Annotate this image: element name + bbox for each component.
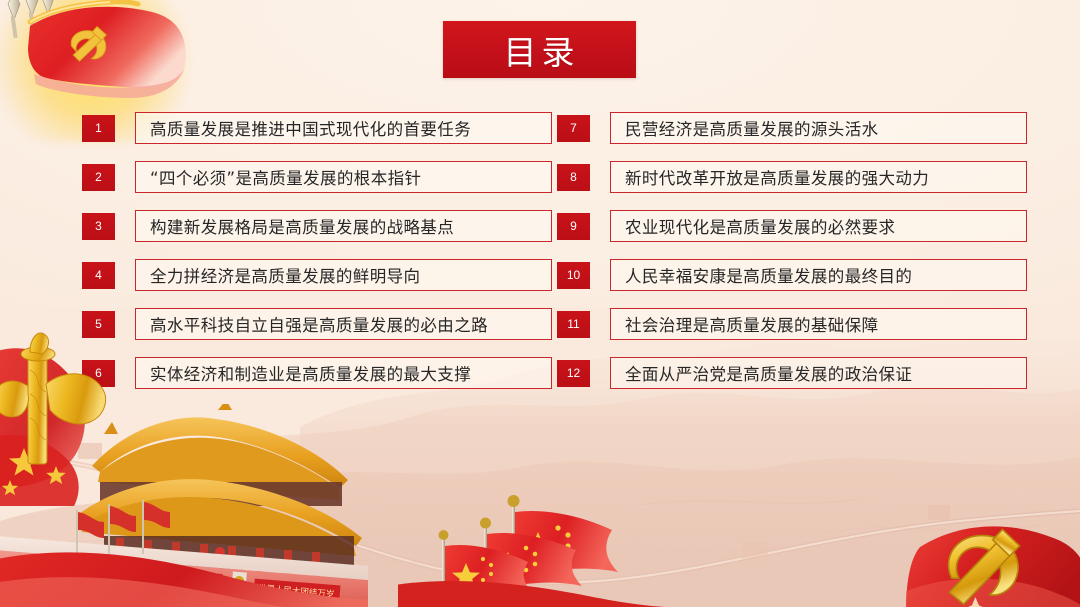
list-item[interactable]: 3 构建新发展格局是高质量发展的战略基点	[82, 210, 552, 242]
item-box[interactable]: 民营经济是高质量发展的源头活水	[610, 112, 1027, 144]
item-box[interactable]: 高水平科技自立自强是高质量发展的必由之路	[135, 308, 552, 340]
list-item[interactable]: 5 高水平科技自立自强是高质量发展的必由之路	[82, 308, 552, 340]
hammer-and-sickle-emblem	[896, 495, 1080, 607]
item-number-badge: 8	[557, 164, 590, 191]
item-number-badge: 4	[82, 262, 115, 289]
list-item[interactable]: 4 全力拼经济是高质量发展的鲜明导向	[82, 259, 552, 291]
tiananmen-gate: 中华人民共和国万岁 世界人民大团结万岁	[0, 404, 368, 607]
item-box[interactable]: 构建新发展格局是高质量发展的战略基点	[135, 210, 552, 242]
item-box[interactable]: 人民幸福安康是高质量发展的最终目的	[610, 259, 1027, 291]
item-number-badge: 1	[82, 115, 115, 142]
list-item[interactable]: 7 民营经济是高质量发展的源头活水	[557, 112, 1027, 144]
item-box[interactable]: 高质量发展是推进中国式现代化的首要任务	[135, 112, 552, 144]
item-number-badge: 12	[557, 360, 590, 387]
item-label: 高水平科技自立自强是高质量发展的必由之路	[136, 312, 488, 336]
item-label: 构建新发展格局是高质量发展的战略基点	[136, 214, 454, 238]
list-item[interactable]: 8 新时代改革开放是高质量发展的强大动力	[557, 161, 1027, 193]
tiananmen-banner-right-text: 世界人民大团结万岁	[258, 583, 335, 600]
list-item[interactable]: 2 “四个必须”是高质量发展的根本指针	[82, 161, 552, 193]
item-number-badge: 5	[82, 311, 115, 338]
slide-title-banner: 目录	[443, 21, 636, 78]
toc-column-left: 1 高质量发展是推进中国式现代化的首要任务 2 “四个必须”是高质量发展的根本指…	[82, 112, 552, 406]
item-label: 全面从严治党是高质量发展的政治保证	[611, 361, 912, 385]
item-box[interactable]: 全力拼经济是高质量发展的鲜明导向	[135, 259, 552, 291]
item-box[interactable]: 新时代改革开放是高质量发展的强大动力	[610, 161, 1027, 193]
item-box[interactable]: 实体经济和制造业是高质量发展的最大支撑	[135, 357, 552, 389]
item-label: “四个必须”是高质量发展的根本指针	[136, 165, 421, 189]
item-number-badge: 10	[557, 262, 590, 289]
item-box[interactable]: 农业现代化是高质量发展的必然要求	[610, 210, 1027, 242]
slide-canvas: 目录 1 高质量发展是推进中国式现代化的首要任务 2 “四个必须”是高质量发展的…	[0, 0, 1080, 607]
item-label: 民营经济是高质量发展的源头活水	[611, 116, 879, 140]
item-label: 高质量发展是推进中国式现代化的首要任务	[136, 116, 471, 140]
item-number-badge: 7	[557, 115, 590, 142]
item-label: 人民幸福安康是高质量发展的最终目的	[611, 263, 912, 287]
chinese-national-flags	[398, 486, 688, 607]
list-item[interactable]: 9 农业现代化是高质量发展的必然要求	[557, 210, 1027, 242]
item-box[interactable]: “四个必须”是高质量发展的根本指针	[135, 161, 552, 193]
item-number-badge: 2	[82, 164, 115, 191]
list-item[interactable]: 11 社会治理是高质量发展的基础保障	[557, 308, 1027, 340]
item-label: 农业现代化是高质量发展的必然要求	[611, 214, 895, 238]
list-item[interactable]: 6 实体经济和制造业是高质量发展的最大支撑	[82, 357, 552, 389]
page-title: 目录	[500, 26, 580, 74]
item-number-badge: 11	[557, 311, 590, 338]
list-item[interactable]: 1 高质量发展是推进中国式现代化的首要任务	[82, 112, 552, 144]
item-number-badge: 3	[82, 213, 115, 240]
list-item[interactable]: 12 全面从严治党是高质量发展的政治保证	[557, 357, 1027, 389]
item-box[interactable]: 社会治理是高质量发展的基础保障	[610, 308, 1027, 340]
item-label: 社会治理是高质量发展的基础保障	[611, 312, 879, 336]
item-number-badge: 6	[82, 360, 115, 387]
item-label: 新时代改革开放是高质量发展的强大动力	[611, 165, 929, 189]
tiananmen-banner-left-text: 中华人民共和国万岁	[129, 570, 220, 590]
item-label: 实体经济和制造业是高质量发展的最大支撑	[136, 361, 471, 385]
item-label: 全力拼经济是高质量发展的鲜明导向	[136, 263, 420, 287]
item-number-badge: 9	[557, 213, 590, 240]
item-box[interactable]: 全面从严治党是高质量发展的政治保证	[610, 357, 1027, 389]
toc-column-right: 7 民营经济是高质量发展的源头活水 8 新时代改革开放是高质量发展的强大动力 9…	[557, 112, 1027, 406]
list-item[interactable]: 10 人民幸福安康是高质量发展的最终目的	[557, 259, 1027, 291]
table-of-contents: 1 高质量发展是推进中国式现代化的首要任务 2 “四个必须”是高质量发展的根本指…	[0, 112, 1080, 412]
